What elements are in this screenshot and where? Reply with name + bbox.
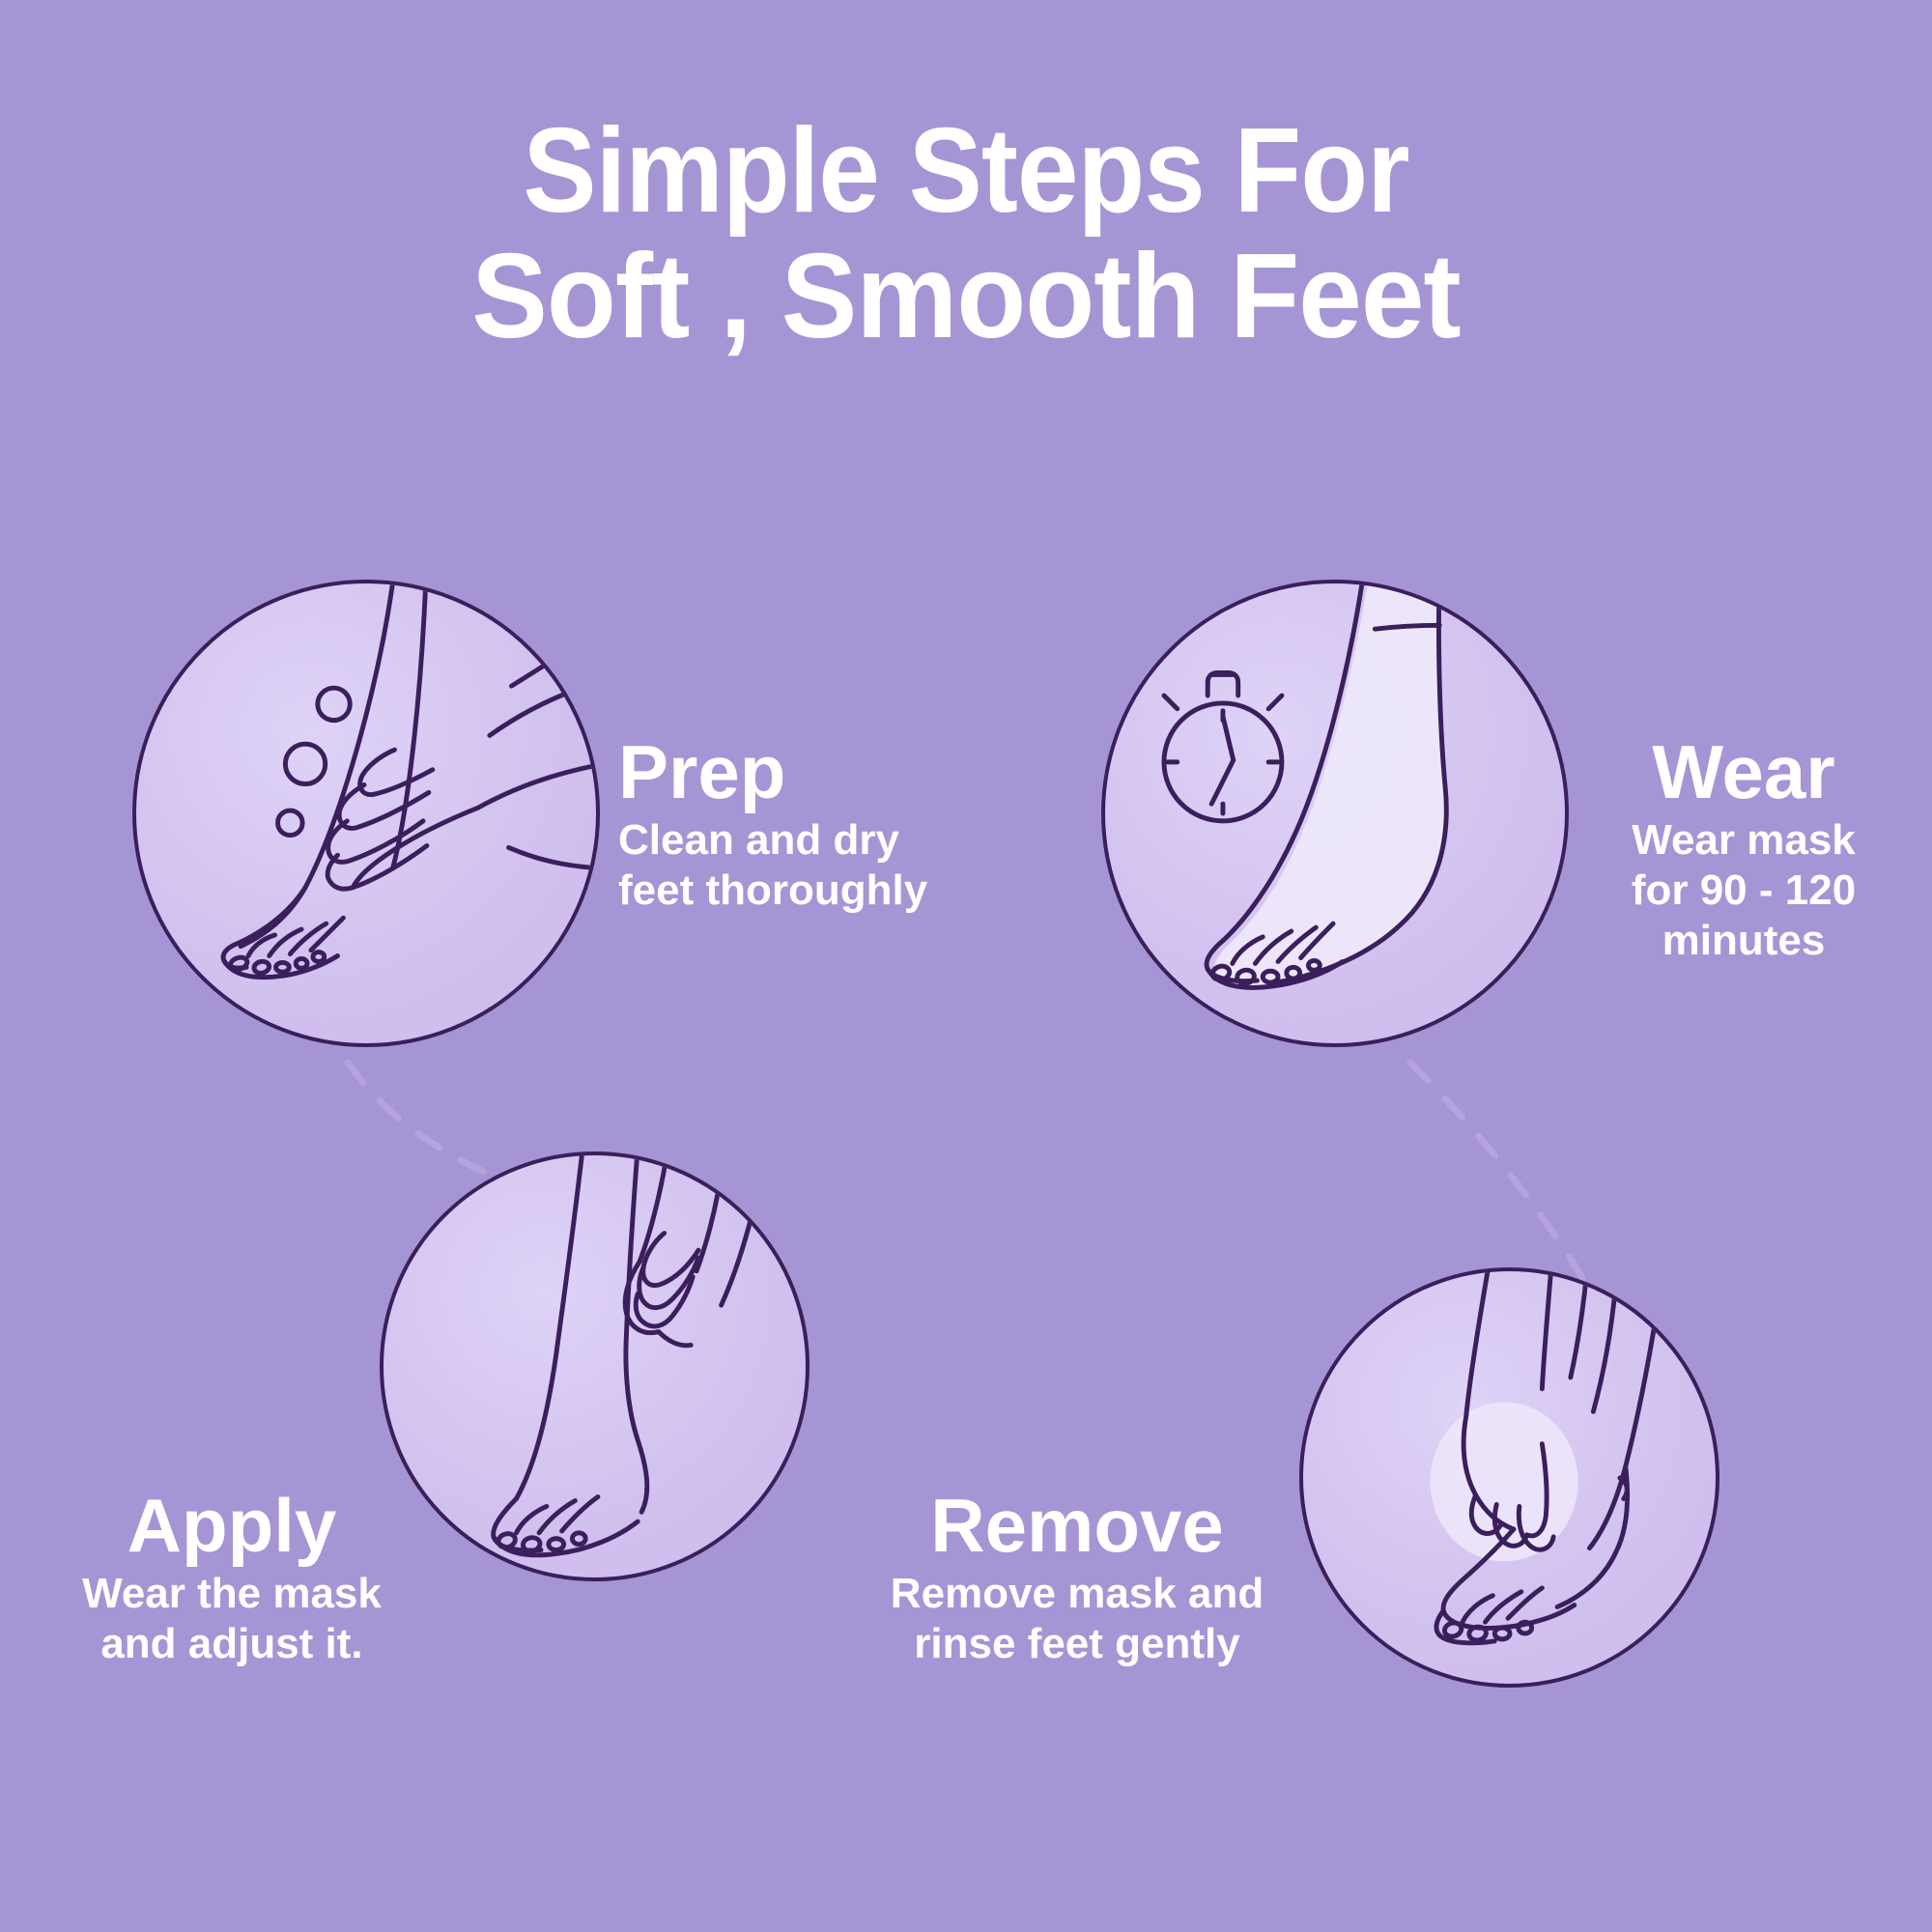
step-text-wear: Wear Wear mask for 90 - 120 minutes: [1565, 734, 1922, 966]
step-description-apply-line-1: Wear the mask: [39, 1569, 425, 1619]
step-heading-wear: Wear: [1565, 734, 1922, 810]
step-description-prep-line-1: Clean and dry: [618, 815, 1024, 866]
step-description-wear-line-3: minutes: [1565, 916, 1922, 966]
step-description-remove-line-1: Remove mask and: [850, 1569, 1304, 1619]
step-illustration-remove: [1299, 1267, 1719, 1688]
step-heading-apply: Apply: [39, 1488, 425, 1563]
step-description-wear-line-1: Wear mask: [1565, 815, 1922, 866]
title-line-1: Simple Steps For: [77, 108, 1855, 234]
step-illustration-apply: [380, 1151, 810, 1581]
step-description-wear: Wear mask for 90 - 120 minutes: [1565, 815, 1922, 966]
step-description-prep: Clean and dry feet thoroughly: [618, 815, 1024, 916]
step-description-apply: Wear the mask and adjust it.: [39, 1569, 425, 1669]
step-heading-remove: Remove: [850, 1488, 1304, 1563]
step-description-wear-line-2: for 90 - 120: [1565, 866, 1922, 916]
step-heading-prep: Prep: [618, 734, 1024, 810]
step-description-apply-line-2: and adjust it.: [39, 1619, 425, 1669]
step-description-remove: Remove mask and rinse feet gently: [850, 1569, 1304, 1669]
step-description-prep-line-2: feet thoroughly: [618, 866, 1024, 916]
page-title: Simple Steps For Soft , Smooth Feet: [0, 108, 1932, 359]
infographic-poster: Simple Steps For Soft , Smooth Feet: [0, 0, 1932, 1932]
step-description-remove-line-2: rinse feet gently: [850, 1619, 1304, 1669]
stopwatch-icon: [1164, 672, 1282, 820]
step-text-apply: Apply Wear the mask and adjust it.: [39, 1488, 425, 1669]
title-line-2: Soft , Smooth Feet: [48, 234, 1884, 359]
step-text-remove: Remove Remove mask and rinse feet gently: [850, 1488, 1304, 1669]
step-text-prep: Prep Clean and dry feet thoroughly: [618, 734, 1024, 916]
step-illustration-wear: [1101, 580, 1569, 1047]
step-illustration-prep: [132, 580, 600, 1047]
